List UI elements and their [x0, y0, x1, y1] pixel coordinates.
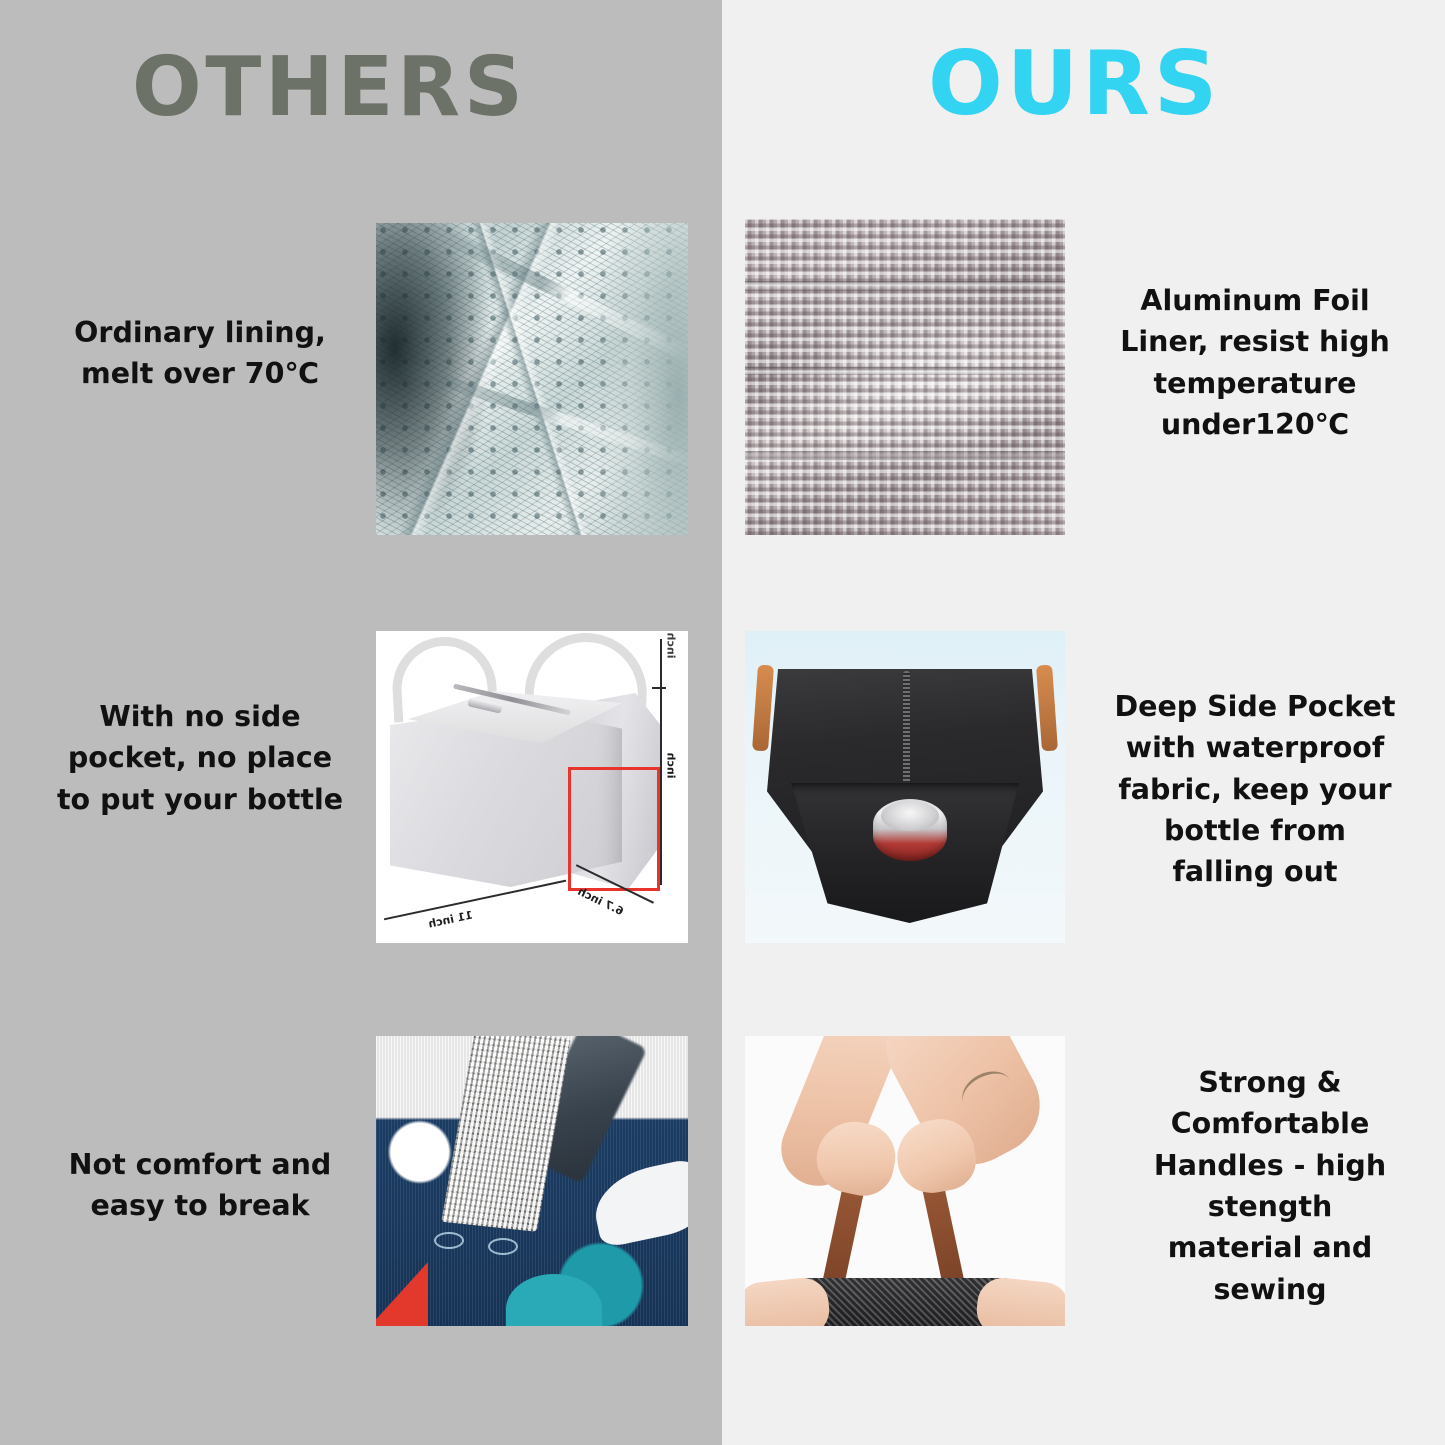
aluminum-foil-liner-photo — [745, 219, 1065, 535]
black-bag-side-pocket-photo — [745, 631, 1065, 943]
hands-pulling-handles-photo — [745, 1036, 1065, 1326]
pattern-shape-red — [376, 1262, 428, 1326]
dimension-label-height: inch — [664, 753, 677, 779]
caption-strong-handles: Strong & Comfortable Handles - high sten… — [1120, 1062, 1420, 1310]
stitch-detail — [434, 1232, 464, 1249]
dimension-label-height-top: inch — [664, 633, 677, 659]
others-heading: OTHERS — [132, 47, 527, 129]
hand-holding-bag-left — [745, 1275, 832, 1326]
dimension-line — [660, 639, 662, 885]
caption-not-comfort: Not comfort and easy to break — [44, 1144, 356, 1227]
caption-no-side-pocket: With no side pocket, no place to put you… — [44, 696, 356, 820]
dimension-line — [384, 880, 566, 920]
ours-heading: OURS — [928, 40, 1221, 128]
pattern-shape-white — [588, 1157, 688, 1248]
ordinary-lining-photo — [376, 223, 688, 535]
pattern-shape-teal — [506, 1274, 602, 1326]
comparison-infographic: OTHERS OURS 11 inch 6.7 inch inch inch — [0, 0, 1445, 1445]
highlight-box — [568, 767, 660, 891]
lining-crease — [386, 223, 572, 535]
dimension-tick — [652, 687, 666, 689]
gray-bag-dimensions-photo: 11 inch 6.7 inch inch inch — [376, 631, 688, 943]
foil-band — [745, 451, 1065, 460]
hand-holding-bag-right — [974, 1275, 1065, 1326]
bag-zipper — [903, 671, 910, 791]
foil-band — [745, 367, 1065, 375]
foil-band — [745, 281, 1065, 291]
bag-handle-strap — [752, 665, 774, 752]
navy-bag-webbing-strap-photo — [376, 1036, 688, 1326]
soda-can-top — [881, 801, 939, 831]
caption-aluminum-foil-liner: Aluminum Foil Liner, resist high tempera… — [1090, 280, 1420, 445]
dimension-label-width: 11 inch — [427, 908, 474, 930]
caption-deep-side-pocket: Deep Side Pocket with waterproof fabric,… — [1090, 686, 1420, 893]
caption-ordinary-lining: Ordinary lining, melt over 70℃ — [44, 312, 356, 395]
bag-handle-strap — [1036, 665, 1058, 752]
webbing-strap — [441, 1036, 571, 1232]
stitch-detail — [488, 1238, 518, 1255]
